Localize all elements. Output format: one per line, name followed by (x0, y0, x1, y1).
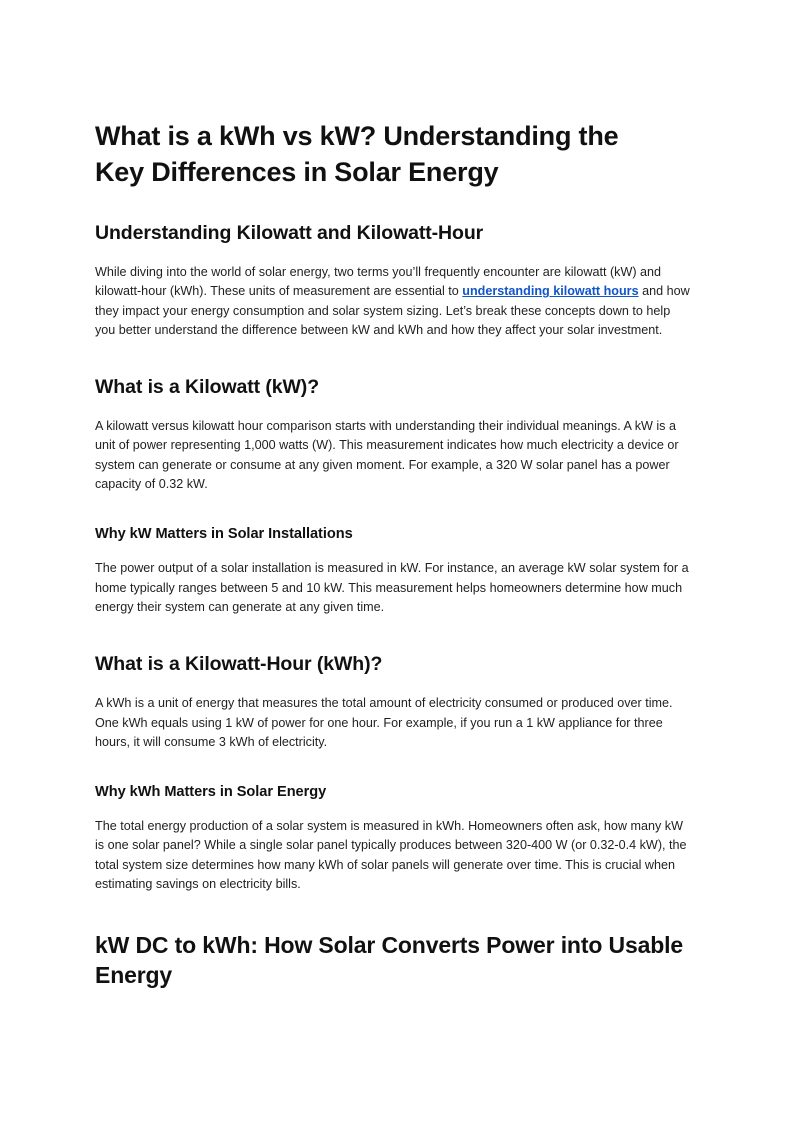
why-kw-matters-paragraph: The power output of a solar installation… (95, 559, 693, 617)
intro-paragraph: While diving into the world of solar ene… (95, 263, 693, 340)
subheading-why-kw-matters-in-solar-installations: Why kW Matters in Solar Installations (95, 524, 695, 544)
section-heading-kw-dc-to-kwh: kW DC to kWh: How Solar Converts Power i… (95, 930, 695, 990)
subheading-why-kwh-matters-in-solar-energy: Why kWh Matters in Solar Energy (95, 782, 695, 802)
kilowatt-definition-paragraph: A kilowatt versus kilowatt hour comparis… (95, 417, 693, 494)
section-heading-what-is-a-kilowatt-hour: What is a Kilowatt-Hour (kWh)? (95, 651, 695, 677)
document-page: What is a kWh vs kW? Understanding the K… (0, 0, 795, 1123)
section-heading-understanding-kilowatt-and-kilowatt-hour: Understanding Kilowatt and Kilowatt-Hour (95, 220, 695, 246)
kilowatt-hour-definition-paragraph: A kWh is a unit of energy that measures … (95, 694, 693, 752)
page-title: What is a kWh vs kW? Understanding the K… (95, 118, 670, 190)
why-kwh-matters-paragraph: The total energy production of a solar s… (95, 817, 693, 894)
document-content-column: What is a kWh vs kW? Understanding the K… (95, 118, 695, 990)
understanding-kilowatt-hours-link[interactable]: understanding kilowatt hours (462, 284, 638, 298)
section-heading-what-is-a-kilowatt: What is a Kilowatt (kW)? (95, 374, 695, 400)
